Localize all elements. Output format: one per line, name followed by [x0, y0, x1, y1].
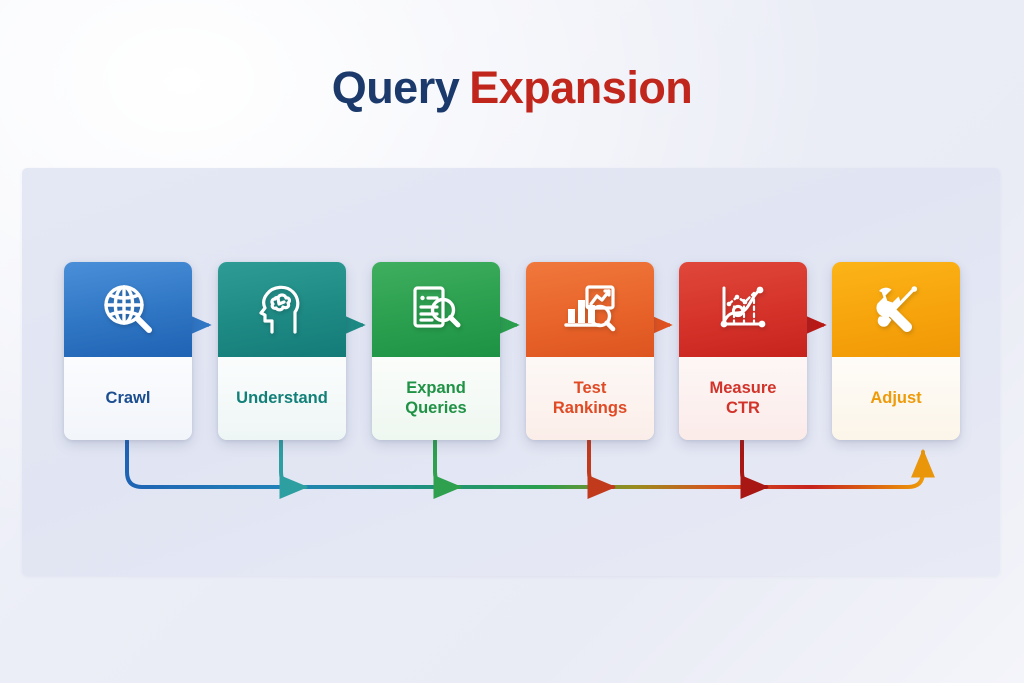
step-card-test-rankings-header: [526, 262, 654, 357]
step-card-test-rankings-label: Test Rankings: [553, 379, 627, 418]
bar-chart-magnifier-icon: [559, 279, 621, 341]
step-card-understand-label: Understand: [236, 389, 328, 408]
page-title: QueryExpansion: [0, 62, 1024, 114]
step-card-understand-header: [218, 262, 346, 357]
step-card-crawl-body: Crawl: [64, 357, 192, 440]
step-card-measure-ctr-label: Measure CTR: [710, 379, 777, 418]
line-chart-scatter-icon: [712, 279, 774, 341]
step-card-understand[interactable]: Understand: [218, 262, 346, 440]
head-brain-icon: [251, 279, 313, 341]
step-card-expand-queries-label: Expand Queries: [405, 379, 466, 418]
globe-magnifier-icon: [97, 279, 159, 341]
wrench-brush-icon: [865, 279, 927, 341]
step-card-test-rankings-body: Test Rankings: [526, 357, 654, 440]
step-card-crawl-header: [64, 262, 192, 357]
step-card-crawl-label: Crawl: [106, 389, 151, 408]
step-card-adjust-body: Adjust: [832, 357, 960, 440]
step-card-measure-ctr-header: [679, 262, 807, 357]
step-card-measure-ctr[interactable]: Measure CTR: [679, 262, 807, 440]
step-card-expand-queries[interactable]: Expand Queries: [372, 262, 500, 440]
step-card-adjust-label: Adjust: [870, 389, 921, 408]
step-card-adjust[interactable]: Adjust: [832, 262, 960, 440]
title-part-expansion: Expansion: [469, 62, 692, 113]
title-part-query: Query: [332, 62, 460, 113]
step-card-adjust-header: [832, 262, 960, 357]
step-card-expand-queries-body: Expand Queries: [372, 357, 500, 440]
step-card-understand-body: Understand: [218, 357, 346, 440]
document-magnifier-icon: [405, 279, 467, 341]
step-card-measure-ctr-body: Measure CTR: [679, 357, 807, 440]
step-card-expand-queries-header: [372, 262, 500, 357]
diagram-canvas: QueryExpansion: [0, 0, 1024, 683]
step-card-crawl[interactable]: Crawl: [64, 262, 192, 440]
step-card-test-rankings[interactable]: Test Rankings: [526, 262, 654, 440]
